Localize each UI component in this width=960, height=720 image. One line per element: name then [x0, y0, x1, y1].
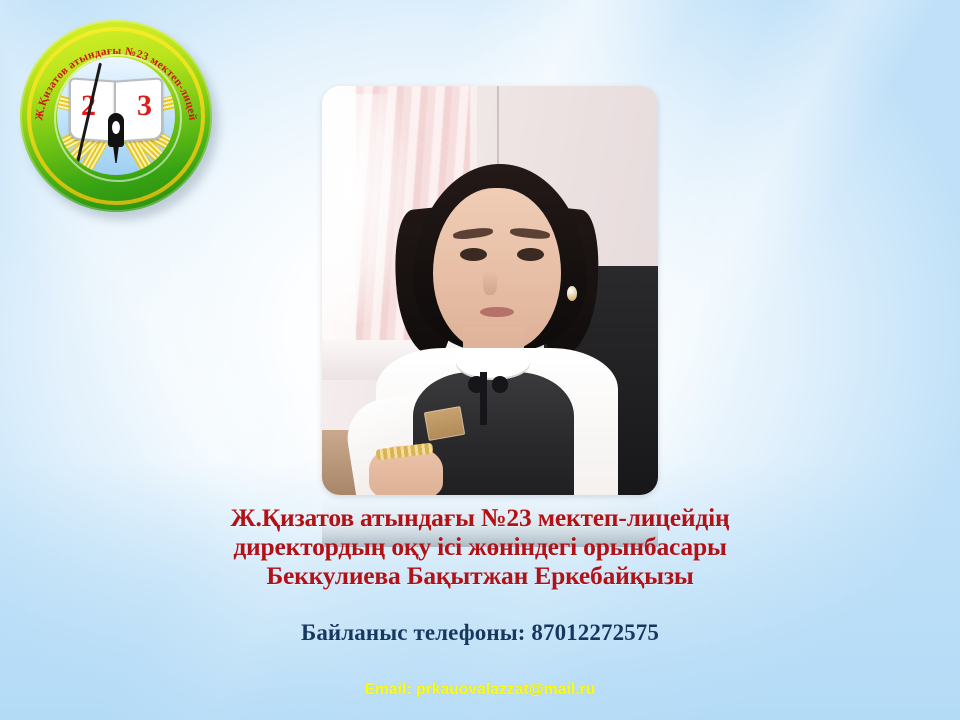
school-emblem-logo: 2 3 Ж.Қизатов атындағы №23 мектеп-лицей — [20, 20, 218, 218]
photo-bow-right — [492, 376, 509, 392]
svg-text:Ж.Қизатов атындағы №23 мектеп-: Ж.Қизатов атындағы №23 мектеп-лицей — [33, 45, 198, 122]
photo-bow-left — [468, 376, 485, 392]
photo-eye-right — [517, 248, 544, 261]
photo-eye-left — [460, 248, 487, 261]
portrait-photo — [322, 86, 658, 495]
photo-nose — [483, 270, 496, 295]
title-line-1: Ж.Қизатов атындағы №23 мектеп-лицейдің — [120, 503, 840, 532]
contact-email-line: Email: prkauovalazzat@mail.ru — [120, 681, 840, 699]
title-line-3: Беккулиева Бақытжан Еркебайқызы — [120, 561, 840, 590]
contact-phone-line: Байланыс телефоны: 87012272575 — [120, 620, 840, 646]
title-block: Ж.Қизатов атындағы №23 мектеп-лицейдің д… — [120, 503, 840, 590]
logo-curved-text: Ж.Қизатов атындағы №23 мектеп-лицей — [20, 20, 212, 212]
slide-canvas: 2 3 Ж.Қизатов атындағы №23 мектеп-лицей — [0, 0, 960, 720]
portrait-photo-frame — [322, 86, 658, 495]
title-line-2: директордың оқу ісі жөніндегі орынбасары — [120, 532, 840, 561]
